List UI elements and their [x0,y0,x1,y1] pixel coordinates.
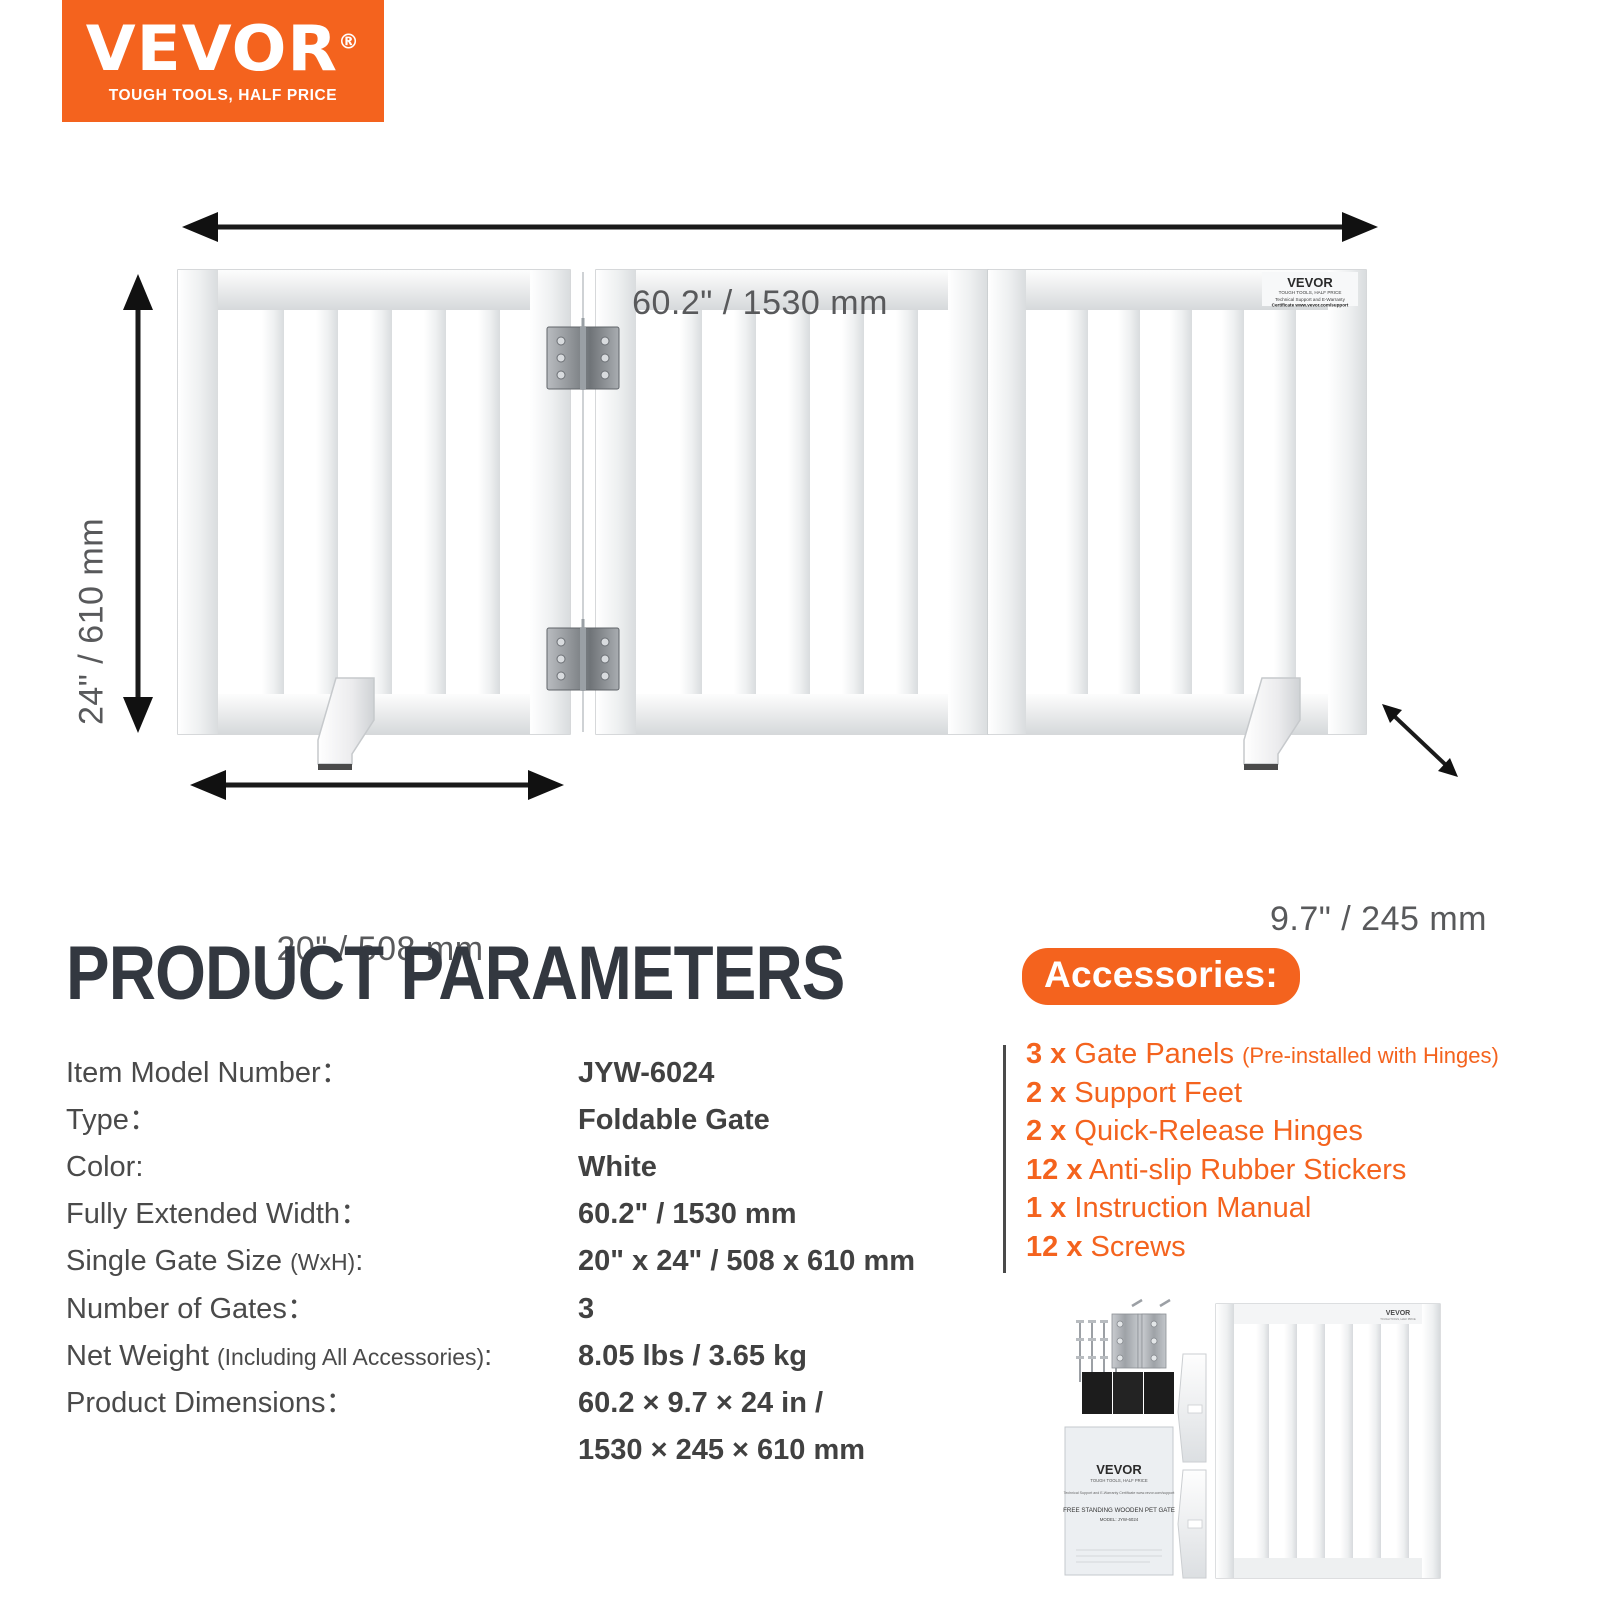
hinge-upper [547,318,619,390]
table-row: Item Model Number： JYW-6024 [66,1055,986,1102]
list-item: 3 x Gate Panels (Pre-installed with Hing… [1026,1035,1586,1074]
param-value: 60.2" / 1530 mm [578,1196,986,1243]
svg-text:TOUGH TOOLS, HALF PRICE: TOUGH TOOLS, HALF PRICE [1380,1317,1416,1321]
param-label: Product Dimensions： [66,1385,578,1432]
column-divider [1003,1045,1006,1273]
svg-text:Certificate www.vevor.com/supp: Certificate www.vevor.com/support [1272,303,1349,308]
param-value: JYW-6024 [578,1055,986,1102]
accessory-qty: 3 x [1026,1038,1066,1070]
page-title: PRODUCT PARAMETERS [66,930,845,1017]
hinges-group [1112,1300,1170,1368]
accessories-photo: VEVOR TOUGH TOOLS, HALF PRICE Technical … [1020,1262,1580,1592]
table-row: Net Weight (Including All Accessories): … [66,1338,986,1385]
param-label: Type： [66,1102,578,1149]
gate-panel-1 [178,270,570,734]
param-label: Item Model Number： [66,1055,578,1102]
rubber-stickers-group [1082,1372,1174,1414]
support-feet-group [1178,1354,1206,1578]
registered-mark: ® [338,29,360,53]
table-row: Product Dimensions： 60.2 × 9.7 × 24 in / [66,1385,986,1432]
accessory-name: Instruction Manual [1074,1192,1311,1224]
param-label: Number of Gates： [66,1291,578,1338]
depth-dimension-label: 9.7" / 245 mm [1270,900,1590,939]
accessory-name: Screws [1091,1231,1186,1263]
param-value: 1530 × 245 × 610 mm [578,1432,986,1479]
height-dimension-label: 24" / 610 mm [73,462,112,782]
param-label: Color: [66,1149,578,1196]
brand-wordmark: VEVOR® [86,18,360,80]
accessories-photo-svg: VEVOR TOUGH TOOLS, HALF PRICE Technical … [1020,1262,1580,1592]
param-label: Fully Extended Width： [66,1196,578,1243]
param-value: Foldable Gate [578,1102,986,1149]
list-item: 12 x Anti-slip Rubber Stickers [1026,1151,1586,1190]
list-item: 1 x Instruction Manual [1026,1189,1586,1228]
param-value: 20" x 24" / 508 x 610 mm [578,1243,986,1290]
param-label: Single Gate Size (WxH): [66,1243,578,1290]
accessory-qty: 12 x [1026,1231,1082,1263]
gate-panel-2 [596,270,988,734]
accessories-list: 3 x Gate Panels (Pre-installed with Hing… [1026,1035,1586,1266]
height-dimension-arrow [123,274,153,733]
table-row: Type： Foldable Gate [66,1102,986,1149]
gate-illustration-svg: VEVOR TOUGH TOOLS, HALF PRICE Technical … [0,122,1600,912]
param-value: 60.2 × 9.7 × 24 in / [578,1385,986,1432]
list-item: 2 x Support Feet [1026,1074,1586,1113]
gate-vevor-sticker: VEVOR TOUGH TOOLS, HALF PRICE Technical … [1262,272,1358,308]
accessory-name: Anti-slip Rubber Stickers [1089,1154,1407,1186]
accessory-note: (Pre-installed with Hinges) [1242,1043,1499,1068]
param-label: Net Weight (Including All Accessories): [66,1338,578,1385]
param-note: (WxH) [290,1249,355,1275]
accessories-heading: Accessories: [1022,948,1300,1005]
accessory-name: Quick-Release Hinges [1074,1115,1363,1147]
accessory-qty: 1 x [1026,1192,1066,1224]
table-row: 1530 × 245 × 610 mm [66,1432,986,1479]
brand-name: VEVOR [86,12,338,85]
accessory-name: Gate Panels [1074,1038,1234,1070]
list-item: 2 x Quick-Release Hinges [1026,1112,1586,1151]
svg-text:TOUGH TOOLS, HALF PRICE: TOUGH TOOLS, HALF PRICE [1279,290,1342,295]
depth-dimension-arrow [1382,704,1458,777]
accessory-qty: 12 x [1026,1154,1082,1186]
table-row: Color: White [66,1149,986,1196]
svg-text:VEVOR: VEVOR [1287,275,1333,290]
svg-text:MODEL: JYW-6024: MODEL: JYW-6024 [1100,1517,1139,1522]
svg-text:VEVOR: VEVOR [1096,1462,1142,1477]
list-item: 12 x Screws [1026,1228,1586,1267]
svg-text:TOUGH TOOLS, HALF PRICE: TOUGH TOOLS, HALF PRICE [1090,1478,1147,1483]
product-diagram: VEVOR TOUGH TOOLS, HALF PRICE Technical … [0,122,1600,912]
param-label-empty [66,1432,578,1479]
gate-panel-photo: VEVOR TOUGH TOOLS, HALF PRICE [1216,1304,1440,1578]
instruction-manual: VEVOR TOUGH TOOLS, HALF PRICE Technical … [1063,1427,1175,1575]
svg-text:VEVOR: VEVOR [1386,1310,1411,1317]
table-row: Fully Extended Width： 60.2" / 1530 mm [66,1196,986,1243]
accessory-name: Support Feet [1074,1077,1242,1109]
width-dimension-label: 60.2" / 1530 mm [520,284,1000,323]
svg-text:Technical Support and E-Warran: Technical Support and E-Warranty Certifi… [1064,1491,1175,1495]
width-dimension-arrow [182,212,1378,242]
table-row: Number of Gates： 3 [66,1291,986,1338]
hinge-lower [547,619,619,691]
param-note: (Including All Accessories) [217,1344,484,1370]
param-value: White [578,1149,986,1196]
param-value: 8.05 lbs / 3.65 kg [578,1338,986,1385]
brand-tagline: TOUGH TOOLS, HALF PRICE [109,87,338,105]
accessory-qty: 2 x [1026,1115,1066,1147]
svg-text:FREE STANDING WOODEN PET GATE: FREE STANDING WOODEN PET GATE [1063,1507,1175,1514]
single-gate-width-arrow [190,770,564,800]
table-row: Single Gate Size (WxH): 20" x 24" / 508 … [66,1243,986,1290]
gate-panel-3 [988,270,1366,734]
svg-text:Technical Support and E-Warran: Technical Support and E-Warranty [1275,297,1345,302]
vevor-logo: VEVOR® TOUGH TOOLS, HALF PRICE [62,0,384,122]
accessory-qty: 2 x [1026,1077,1066,1109]
param-value: 3 [578,1291,986,1338]
product-parameters-table: Item Model Number： JYW-6024 Type： Foldab… [66,1055,986,1479]
